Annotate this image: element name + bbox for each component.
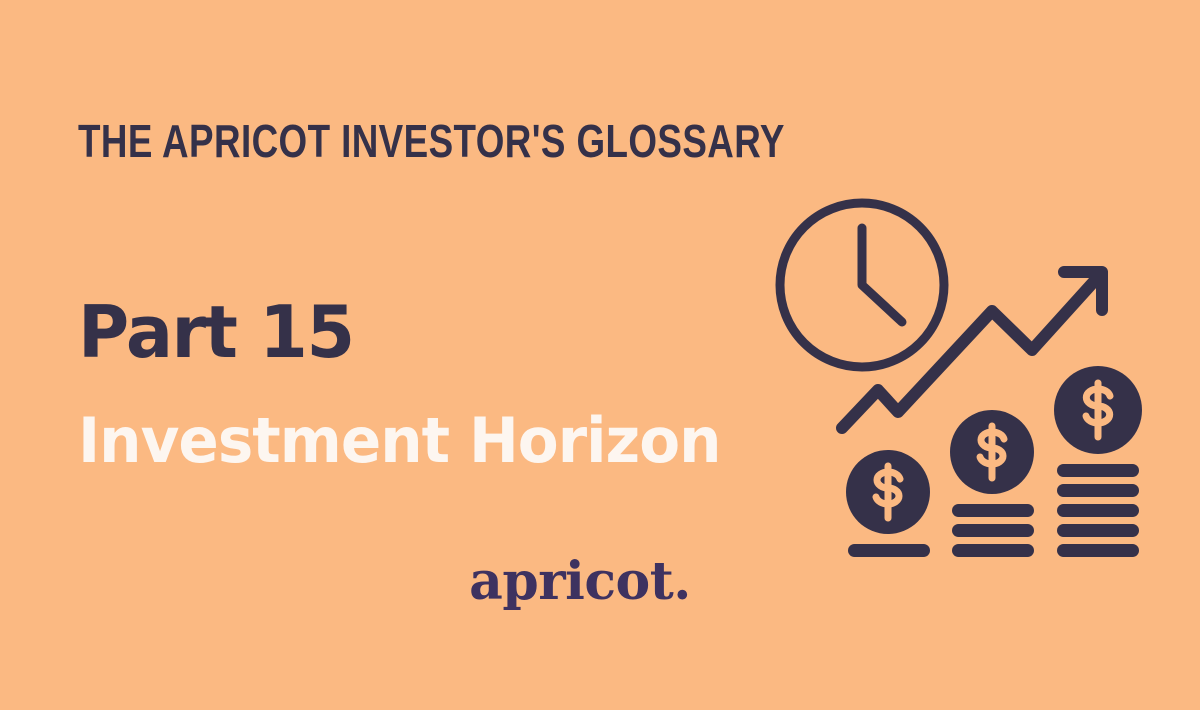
glossary-slide: The Apricot Investor's Glossary Part 15 … [0,0,1200,710]
part-label: Part 15 [78,296,354,368]
brand-logo-text: apricot. [469,556,691,608]
coin-stack-large [1054,366,1142,557]
text-block: The Apricot Investor's Glossary [78,118,838,164]
investment-horizon-illustration [760,180,1160,570]
term-title: Investment Horizon [78,408,721,473]
coin-stack-medium [950,410,1034,557]
clock-icon [780,203,944,367]
coin-stack-small [846,450,930,557]
page-title: The Apricot Investor's Glossary [78,118,686,164]
